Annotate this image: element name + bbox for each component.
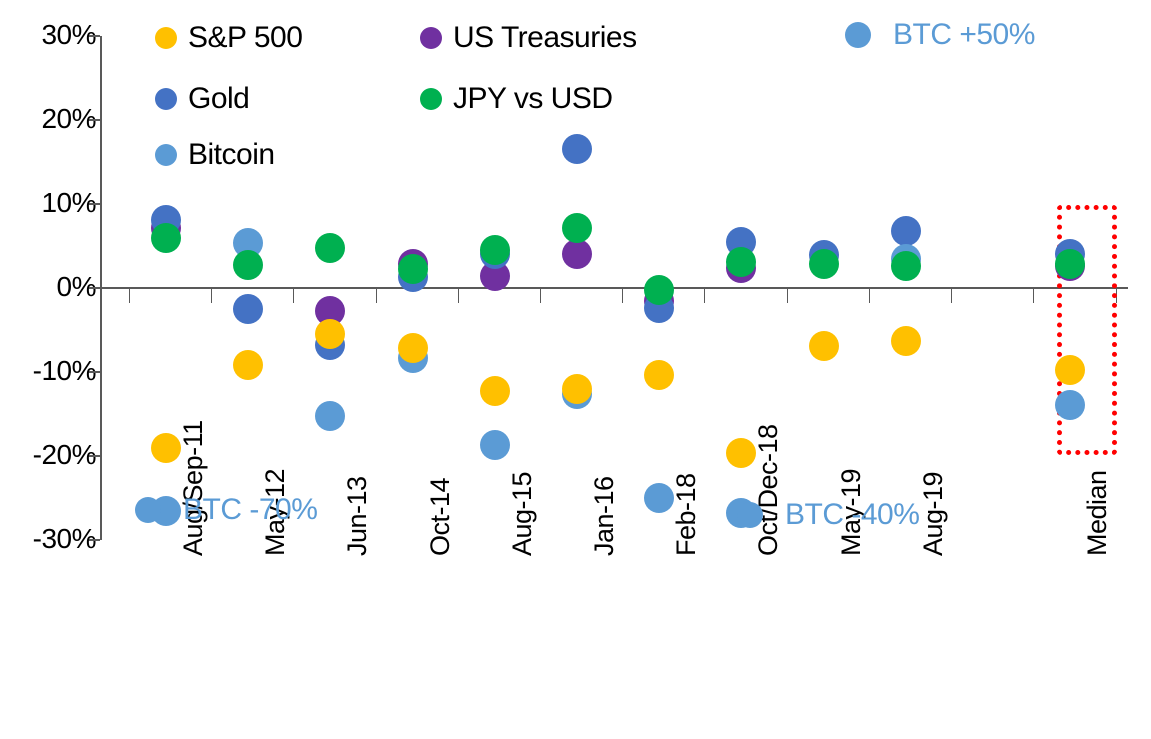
legend-swatch-icon	[420, 27, 442, 49]
x-axis-tick	[951, 289, 952, 303]
data-point-sp500	[809, 331, 839, 361]
data-point-bitcoin	[644, 483, 674, 513]
x-axis-tick	[622, 289, 623, 303]
data-point-sp500	[891, 326, 921, 356]
legend-item-sp500[interactable]: S&P 500	[155, 23, 302, 53]
legend-item-ustreasuries[interactable]: US Treasuries	[420, 23, 637, 53]
y-axis-label: -10%	[0, 357, 96, 385]
x-axis-tick	[129, 289, 130, 303]
y-axis-tick	[89, 35, 100, 37]
data-point-jpyusd	[644, 275, 674, 305]
y-axis-label: -20%	[0, 441, 96, 469]
x-axis-tick	[293, 289, 294, 303]
legend-swatch-icon	[420, 88, 442, 110]
legend-swatch-icon	[155, 144, 177, 166]
data-point-jpyusd	[398, 254, 428, 284]
legend-label: JPY vs USD	[453, 84, 613, 114]
data-point-sp500	[562, 374, 592, 404]
legend-label: S&P 500	[188, 23, 302, 53]
y-axis-tick	[89, 287, 100, 289]
x-axis-label: Oct-14	[425, 478, 456, 556]
x-axis-label: Oct/Dec-18	[753, 424, 784, 556]
legend-swatch-icon	[155, 27, 177, 49]
x-axis-label: Aug-19	[918, 472, 949, 556]
y-axis-label: 30%	[0, 21, 96, 49]
chart-canvas: 30%20%10%0%-10%-20%-30%Aug/Sep-11May-12J…	[0, 0, 1151, 739]
data-point-bitcoin	[480, 430, 510, 460]
legend-item-bitcoin[interactable]: Bitcoin	[155, 140, 275, 170]
data-point-jpyusd	[233, 250, 263, 280]
y-axis-label: -30%	[0, 525, 96, 553]
y-axis-label: 0%	[0, 273, 96, 301]
y-axis-label: 20%	[0, 105, 96, 133]
data-point-gold	[562, 134, 592, 164]
bitcoin-marker-icon	[737, 502, 763, 528]
annotation-btc-up-50: BTC +50%	[845, 20, 1035, 50]
x-axis-tick	[376, 289, 377, 303]
data-point-bitcoin	[315, 401, 345, 431]
legend-label: US Treasuries	[453, 23, 637, 53]
x-axis-tick	[1033, 289, 1034, 303]
data-point-jpyusd	[480, 235, 510, 265]
x-axis-label: Aug/Sep-11	[178, 420, 209, 556]
bitcoin-marker-icon	[845, 22, 871, 48]
y-axis-tick	[89, 371, 100, 373]
legend-item-gold[interactable]: Gold	[155, 84, 249, 114]
x-axis-label: Feb-18	[671, 473, 702, 556]
data-point-gold	[233, 294, 263, 324]
x-axis-tick	[869, 289, 870, 303]
annotation-label: BTC -40%	[785, 500, 919, 530]
legend-label: Bitcoin	[188, 140, 275, 170]
zero-axis-line	[100, 287, 1128, 289]
x-axis-label: Median	[1082, 470, 1113, 556]
x-axis-tick	[211, 289, 212, 303]
data-point-sp500	[151, 433, 181, 463]
x-axis-label: Aug-15	[507, 472, 538, 556]
data-point-sp500	[480, 376, 510, 406]
data-point-ustreasuries	[562, 239, 592, 269]
y-axis-tick	[89, 203, 100, 205]
annotation-label: BTC +50%	[893, 20, 1035, 50]
legend-item-jpyusd[interactable]: JPY vs USD	[420, 84, 613, 114]
data-point-jpyusd	[562, 213, 592, 243]
annotation-label: BTC -70%	[183, 495, 317, 525]
x-axis-label: Jan-16	[589, 476, 620, 556]
data-point-jpyusd	[891, 251, 921, 281]
y-axis-label: 10%	[0, 189, 96, 217]
data-point-jpyusd	[315, 233, 345, 263]
y-axis-tick	[89, 455, 100, 457]
data-point-jpyusd	[1055, 249, 1085, 279]
data-point-sp500	[644, 360, 674, 390]
annotation-btc-down-70: BTC -70%	[135, 495, 317, 525]
x-axis-tick	[787, 289, 788, 303]
bitcoin-marker-icon	[135, 497, 161, 523]
x-axis-label: Jun-13	[342, 476, 373, 556]
x-axis-tick	[704, 289, 705, 303]
y-axis-tick	[89, 119, 100, 121]
data-point-sp500	[726, 438, 756, 468]
x-axis-tick	[458, 289, 459, 303]
data-point-gold	[891, 216, 921, 246]
annotation-btc-down-40: BTC -40%	[737, 500, 919, 530]
data-point-bitcoin	[1055, 390, 1085, 420]
data-point-jpyusd	[809, 249, 839, 279]
data-point-jpyusd	[151, 223, 181, 253]
legend-label: Gold	[188, 84, 249, 114]
data-point-sp500	[233, 350, 263, 380]
data-point-sp500	[398, 333, 428, 363]
x-axis-tick	[540, 289, 541, 303]
legend-swatch-icon	[155, 88, 177, 110]
y-axis-tick	[89, 539, 100, 541]
